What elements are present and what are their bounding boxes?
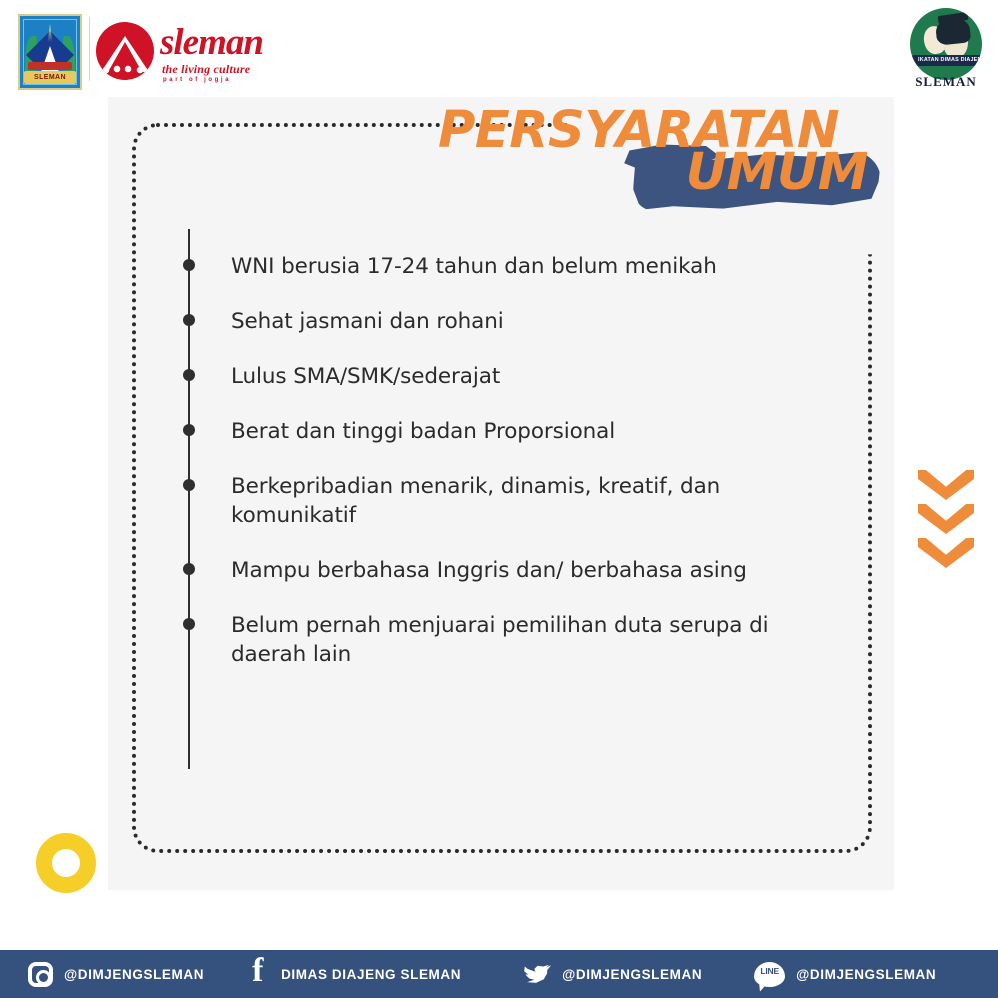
list-item-label: Lulus SMA/SMK/sederajat <box>231 364 500 389</box>
list-item-label: Sehat jasmani dan rohani <box>231 309 504 334</box>
header-divider <box>89 17 90 81</box>
social-instagram[interactable]: @DIMJENGSLEMAN <box>28 962 204 987</box>
bullet-icon <box>183 618 195 630</box>
list-item: Mampu berbahasa Inggris dan/ berbahasa a… <box>183 556 823 585</box>
list-item: Berkepribadian menarik, dinamis, kreatif… <box>183 472 823 530</box>
list-item: Sehat jasmani dan rohani <box>183 307 823 336</box>
twitter-icon <box>523 963 551 986</box>
social-facebook[interactable]: DIMAS DIAJENG SLEMAN <box>252 961 461 988</box>
sleman-brand-logo: sleman the living culture part of jogja <box>96 20 296 82</box>
facebook-icon <box>252 961 270 988</box>
line-icon-label: LINE <box>754 966 785 976</box>
sleman-tagline: the living culture <box>162 62 250 77</box>
list-item-label: Belum pernah menjuarai pemilihan duta se… <box>231 613 769 667</box>
list-item: Berat dan tinggi badan Proporsional <box>183 417 823 446</box>
bullet-icon <box>183 369 195 381</box>
social-facebook-handle: DIMAS DIAJENG SLEMAN <box>281 967 461 982</box>
list-item-label: Mampu berbahasa Inggris dan/ berbahasa a… <box>231 558 747 583</box>
sleman-mountain-icon <box>96 22 154 80</box>
bullet-icon <box>183 563 195 575</box>
batik-pattern <box>100 58 150 78</box>
bullet-icon <box>183 424 195 436</box>
idds-green-circle: IKATAN DIMAS DIAJENG <box>910 8 982 80</box>
chevron-down-icon-group <box>918 470 974 574</box>
page-title: PERSYARATAN UMUM <box>438 105 886 215</box>
bullet-icon <box>183 259 195 271</box>
yellow-ring-decoration <box>36 833 96 893</box>
list-item: WNI berusia 17-24 tahun dan belum menika… <box>183 252 823 281</box>
page-header: SLEMAN sleman the living culture part of… <box>0 0 998 97</box>
list-item: Belum pernah menjuarai pemilihan duta se… <box>183 611 823 669</box>
page-title-line-2: UMUM <box>438 147 868 199</box>
social-instagram-handle: @DIMJENGSLEMAN <box>64 967 204 982</box>
list-item-label: WNI berusia 17-24 tahun dan belum menika… <box>231 254 717 279</box>
idds-name-label: SLEMAN <box>904 74 988 90</box>
requirements-list: WNI berusia 17-24 tahun dan belum menika… <box>183 252 823 669</box>
instagram-icon <box>28 962 53 987</box>
list-item: Lulus SMA/SMK/sederajat <box>183 362 823 391</box>
idds-band-label: IKATAN DIMAS DIAJENG <box>912 55 982 66</box>
social-twitter[interactable]: @DIMJENGSLEMAN <box>523 963 702 986</box>
list-item-label: Berat dan tinggi badan Proporsional <box>231 419 615 444</box>
bullet-icon <box>183 314 195 326</box>
ikatan-dimas-diajeng-sleman-logo: IKATAN DIMAS DIAJENG SLEMAN <box>904 8 988 90</box>
chevron-down-icon <box>918 504 974 534</box>
emblem-banner-label: SLEMAN <box>24 71 76 84</box>
sleman-regency-emblem-icon: SLEMAN <box>18 14 82 90</box>
line-icon: LINE <box>754 962 785 987</box>
social-line[interactable]: LINE @DIMJENGSLEMAN <box>754 962 936 987</box>
list-item-label: Berkepribadian menarik, dinamis, kreatif… <box>231 474 720 528</box>
sleman-wordmark: sleman <box>160 24 263 61</box>
chevron-down-icon <box>918 470 974 500</box>
content-panel: PERSYARATAN UMUM WNI berusia 17-24 tahun… <box>108 97 894 890</box>
bullet-icon <box>183 479 195 491</box>
emblem-ribbon <box>28 62 72 70</box>
chevron-down-icon <box>918 538 974 568</box>
social-twitter-handle: @DIMJENGSLEMAN <box>562 967 702 982</box>
social-footer-bar: @DIMJENGSLEMAN DIMAS DIAJENG SLEMAN @DIM… <box>0 950 998 998</box>
sleman-subtagline: part of jogja <box>163 77 231 83</box>
social-line-handle: @DIMJENGSLEMAN <box>796 967 936 982</box>
